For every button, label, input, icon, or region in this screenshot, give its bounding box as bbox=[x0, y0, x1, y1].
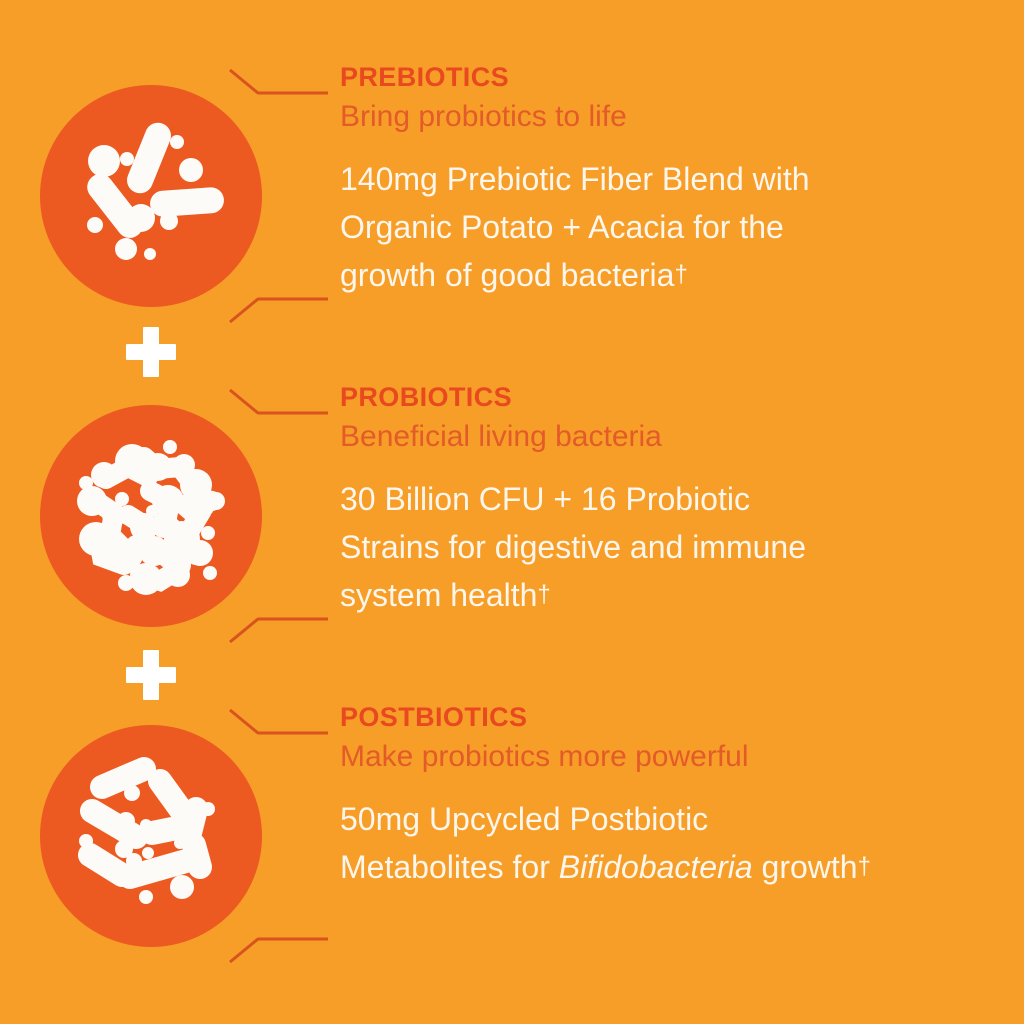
plus-separator-icon bbox=[126, 650, 176, 700]
description-line-2: Strains for digestive and immune bbox=[340, 529, 806, 565]
benefit-tagline: Beneficial living bacteria bbox=[340, 417, 970, 457]
plus-vertical-bar bbox=[143, 650, 159, 700]
postbiotic-bacilli-icon-badge bbox=[40, 725, 262, 947]
species-name: Bifidobacteria bbox=[559, 849, 753, 885]
prebiotic-fiber-icon-badge bbox=[40, 85, 262, 307]
description-line-1: 50mg Upcycled Postbiotic bbox=[340, 801, 708, 837]
benefit-text-prebiotics: PREBIOTICS Bring probiotics to life 140m… bbox=[340, 60, 970, 299]
benefit-description: 30 Billion CFU + 16 Probiotic Strains fo… bbox=[340, 475, 970, 619]
benefit-text-postbiotics: POSTBIOTICS Make probiotics more powerfu… bbox=[340, 700, 970, 891]
dagger-footnote-marker: † bbox=[537, 581, 550, 608]
plus-separator-icon bbox=[126, 327, 176, 377]
description-line-1: 30 Billion CFU + 16 Probiotic bbox=[340, 481, 750, 517]
description-line-2-suffix: growth bbox=[753, 849, 858, 885]
description-line-1: 140mg Prebiotic Fiber Blend with bbox=[340, 161, 810, 197]
benefit-kicker: POSTBIOTICS bbox=[340, 700, 970, 734]
dagger-footnote-marker: † bbox=[674, 261, 687, 288]
dagger-footnote-marker: † bbox=[858, 853, 871, 880]
prebiotic-fiber-icon bbox=[40, 85, 262, 307]
benefit-section-prebiotics: PREBIOTICS Bring probiotics to life 140m… bbox=[0, 60, 1024, 350]
benefit-tagline: Bring probiotics to life bbox=[340, 97, 970, 137]
benefit-text-probiotics: PROBIOTICS Beneficial living bacteria 30… bbox=[340, 380, 970, 619]
probiotic-colony-icon bbox=[40, 405, 262, 627]
benefit-section-probiotics: PROBIOTICS Beneficial living bacteria 30… bbox=[0, 380, 1024, 670]
postbiotic-bacilli-icon bbox=[40, 725, 262, 947]
benefit-description: 140mg Prebiotic Fiber Blend with Organic… bbox=[340, 155, 970, 299]
plus-vertical-bar bbox=[143, 327, 159, 377]
description-line-2-prefix: Metabolites for bbox=[340, 849, 559, 885]
probiotic-colony-icon-badge bbox=[40, 405, 262, 627]
benefit-kicker: PREBIOTICS bbox=[340, 60, 970, 94]
description-line-3: system health bbox=[340, 577, 537, 613]
description-line-2: Organic Potato + Acacia for the bbox=[340, 209, 784, 245]
benefit-description: 50mg Upcycled Postbiotic Metabolites for… bbox=[340, 795, 970, 891]
benefit-kicker: PROBIOTICS bbox=[340, 380, 970, 414]
benefit-tagline: Make probiotics more powerful bbox=[340, 737, 970, 777]
benefit-section-postbiotics: POSTBIOTICS Make probiotics more powerfu… bbox=[0, 700, 1024, 990]
supplement-benefits-infographic: PREBIOTICS Bring probiotics to life 140m… bbox=[0, 0, 1024, 1024]
description-line-3: growth of good bacteria bbox=[340, 257, 674, 293]
